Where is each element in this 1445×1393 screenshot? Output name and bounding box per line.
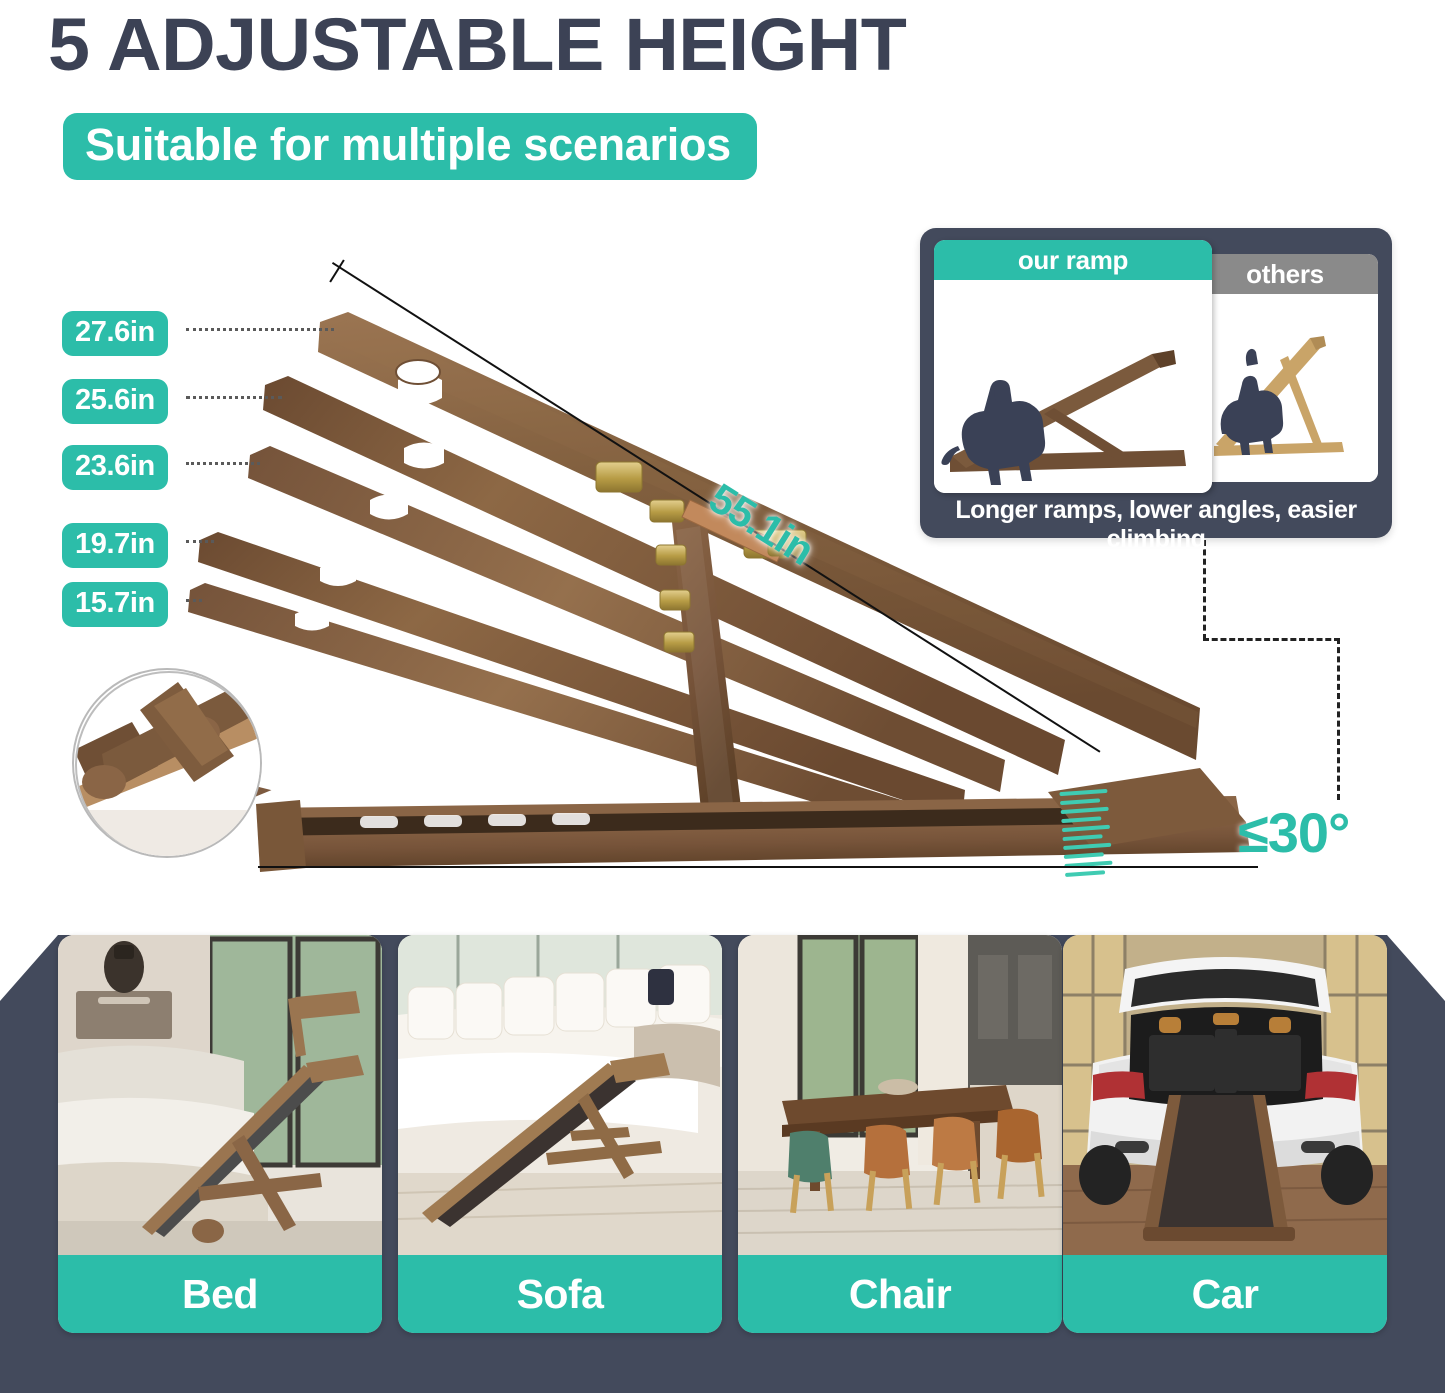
connector-dash-vertical-1	[1203, 540, 1206, 640]
angle-label: ≤30°	[1238, 800, 1349, 865]
comparison-ours-card: our ramp	[934, 240, 1212, 493]
scenario-label-car-text: Car	[1192, 1271, 1259, 1318]
subtitle-pill: Suitable for multiple scenarios	[63, 113, 757, 180]
height-badge-15-7: 15.7in	[62, 582, 168, 627]
scenario-card-chair[interactable]: Chair	[738, 935, 1062, 1333]
scenario-photo-bed	[58, 935, 382, 1255]
scenario-label-chair-text: Chair	[849, 1271, 951, 1318]
ground-reference-line	[258, 866, 1258, 868]
height-badge-27-6: 27.6in	[62, 311, 168, 356]
comparison-ours-header: our ramp	[934, 240, 1212, 280]
height-badge-19-7: 19.7in	[62, 523, 168, 568]
scenario-cards: Bed	[0, 935, 1445, 1393]
comparison-ours-illustration	[934, 280, 1212, 493]
subtitle-text: Suitable for multiple scenarios	[85, 122, 731, 167]
leader-line-25-6	[186, 396, 282, 399]
height-badge-23-6: 23.6in	[62, 445, 168, 490]
scenario-photo-chair	[738, 935, 1062, 1255]
leader-line-15-7	[186, 599, 202, 602]
leader-line-19-7	[186, 540, 214, 543]
scenario-label-bed: Bed	[58, 1255, 382, 1333]
scenario-card-bed[interactable]: Bed	[58, 935, 382, 1333]
page-title: 5 ADJUSTABLE HEIGHT	[48, 2, 906, 87]
scenario-photo-car	[1063, 935, 1387, 1255]
header-section: 5 ADJUSTABLE HEIGHT Suitable for multipl…	[0, 0, 1445, 200]
scenario-label-car: Car	[1063, 1255, 1387, 1333]
connector-dash-vertical-2	[1337, 638, 1340, 800]
scenario-label-sofa-text: Sofa	[517, 1271, 604, 1318]
connector-dash-horizontal	[1203, 638, 1340, 641]
grip-hatch-marks	[1059, 788, 1124, 870]
scenario-card-sofa[interactable]: Sofa	[398, 935, 722, 1333]
scenario-card-car[interactable]: Car	[1063, 935, 1387, 1333]
scenario-label-chair: Chair	[738, 1255, 1062, 1333]
comparison-others-card: others	[1192, 254, 1378, 482]
comparison-caption: Longer ramps, lower angles, easier climb…	[920, 496, 1392, 554]
notch-closeup-callout	[72, 668, 262, 858]
height-badge-25-6: 25.6in	[62, 379, 168, 424]
scenario-label-sofa: Sofa	[398, 1255, 722, 1333]
scenario-photo-sofa	[398, 935, 722, 1255]
comparison-box: others our ramp	[920, 228, 1392, 538]
comparison-others-header: others	[1192, 254, 1378, 294]
comparison-others-illustration	[1192, 294, 1378, 482]
comparison-ours-label: our ramp	[1018, 245, 1128, 276]
leader-line-27-6	[186, 328, 334, 331]
scenario-label-bed-text: Bed	[182, 1271, 258, 1318]
comparison-others-label: others	[1246, 259, 1324, 290]
leader-line-23-6	[186, 462, 260, 465]
